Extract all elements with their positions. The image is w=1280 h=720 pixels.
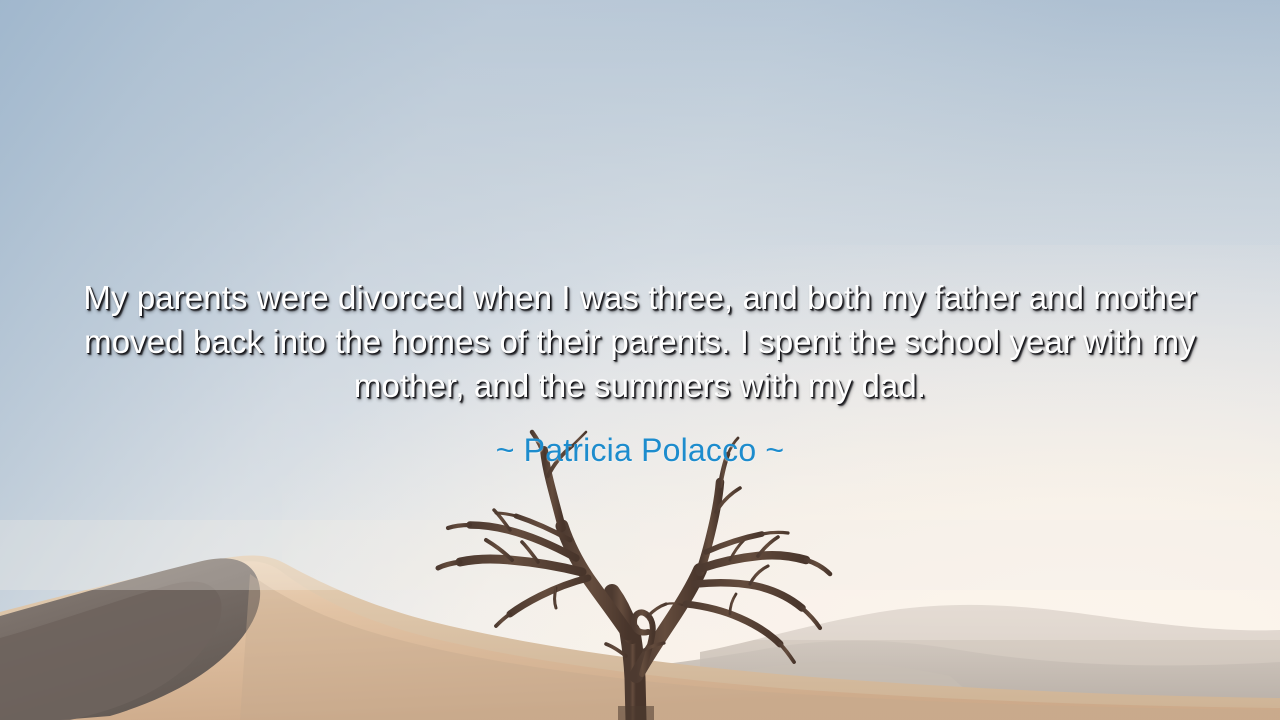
- quote-image-scene: My parents were divorced when I was thre…: [0, 0, 1280, 720]
- quote-attribution: ~ Patricia Polacco ~: [62, 430, 1218, 470]
- quote-text: My parents were divorced when I was thre…: [62, 276, 1218, 408]
- quote-block: My parents were divorced when I was thre…: [0, 276, 1280, 470]
